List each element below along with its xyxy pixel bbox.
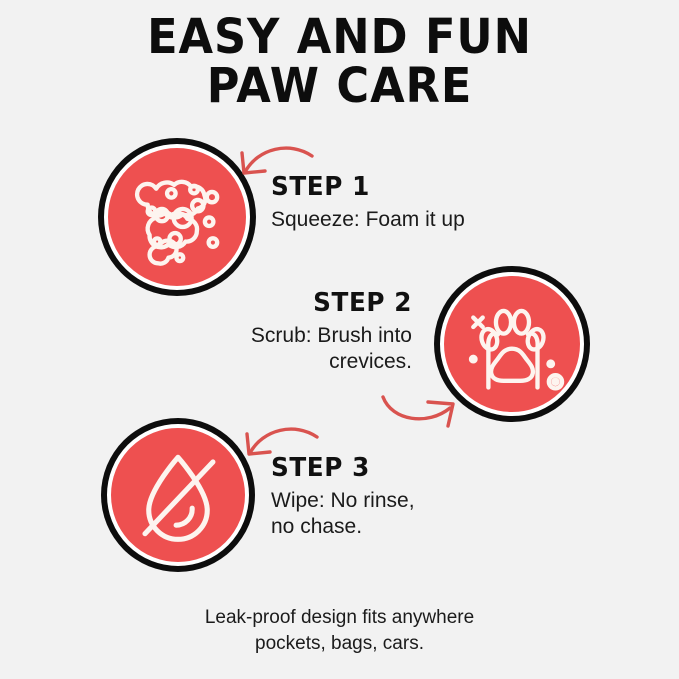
step-1-badge (104, 144, 250, 290)
step-2-text: STEP 2 Scrub: Brush into crevices. (180, 288, 412, 376)
footer-tagline: Leak-proof design fits anywhere pockets,… (0, 605, 679, 656)
step-1-text: STEP 1 Squeeze: Foam it up (271, 172, 465, 233)
step-2-heading: STEP 2 (192, 288, 412, 318)
step-1-heading: STEP 1 (271, 172, 455, 202)
no-water-drop-icon (111, 428, 245, 562)
step-3-text: STEP 3 Wipe: No rinse, no chase. (271, 453, 415, 541)
step-2-description: Scrub: Brush into crevices. (180, 323, 412, 376)
paw-print-icon (444, 276, 580, 412)
title-line-2: PAW CARE (24, 63, 655, 110)
step-3-badge (107, 424, 249, 566)
step-3-heading: STEP 3 (271, 453, 407, 483)
step-1-description: Squeeze: Foam it up (271, 207, 465, 233)
step-3-description: Wipe: No rinse, no chase. (271, 488, 415, 541)
paw-care-infographic: EASY AND FUN PAW CARE (0, 0, 679, 679)
page-title: EASY AND FUN PAW CARE (24, 14, 655, 110)
step-2-badge (440, 272, 584, 416)
title-line-1: EASY AND FUN (24, 14, 655, 61)
foam-bubbles-icon (108, 148, 246, 286)
